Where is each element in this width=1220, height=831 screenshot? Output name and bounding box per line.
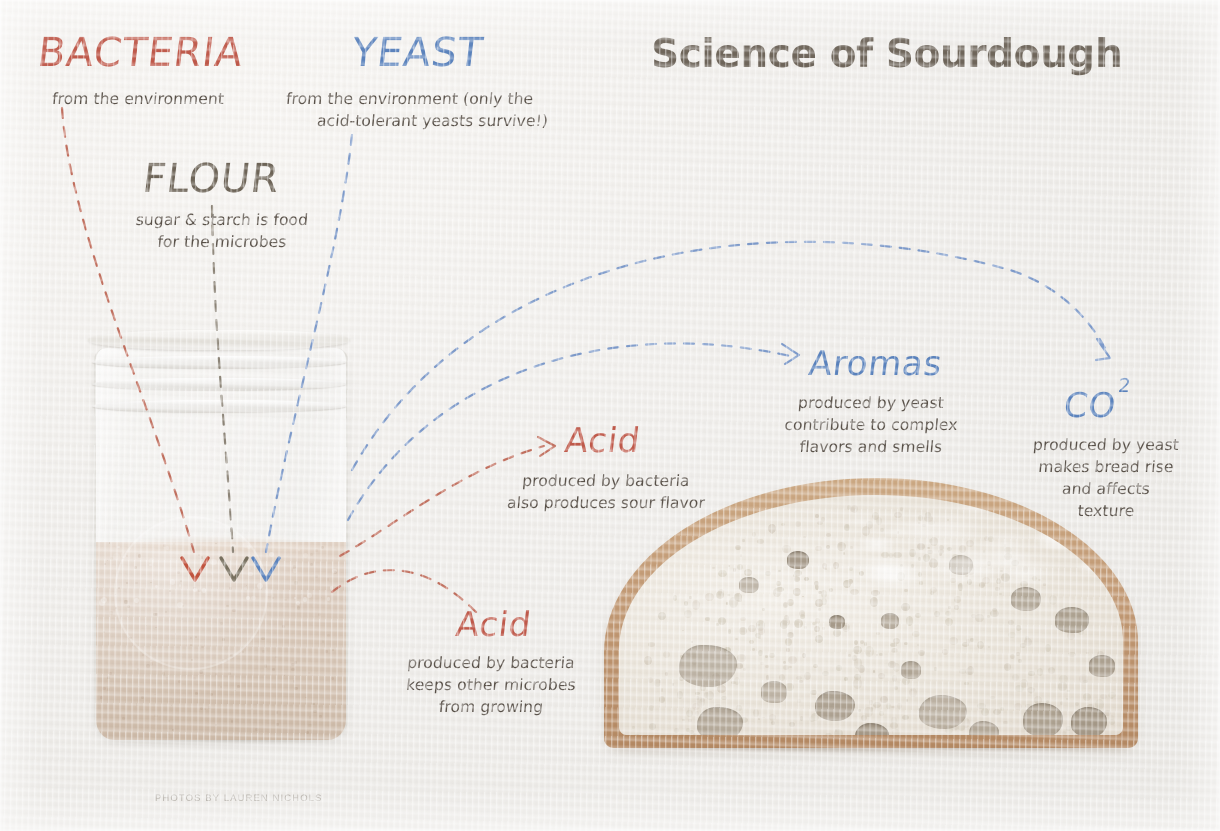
label-aromas-line-3: flavors and smells bbox=[777, 436, 965, 458]
label-flour-heading: FLOUR bbox=[140, 156, 282, 202]
label-co2-heading: CO2 bbox=[1062, 386, 1132, 426]
label-co2-line-2: makes bread rise bbox=[1015, 456, 1197, 478]
line-jar-to-co2 bbox=[352, 242, 1106, 470]
arrowhead-co2 bbox=[1096, 339, 1110, 360]
label-bacteria-line-1: from the environment bbox=[51, 88, 225, 110]
label-acid-upper-line-2: also produces sour flavor bbox=[499, 492, 713, 514]
label-acid-upper-line-1: produced by bacteria bbox=[499, 470, 713, 492]
label-acid-lower-line-2: keeps other microbes bbox=[391, 674, 591, 696]
label-acid-lower-line-3: from growing bbox=[391, 696, 591, 718]
starter-jar-photo bbox=[86, 330, 352, 740]
arrowhead-aromas bbox=[782, 344, 799, 364]
label-acid-lower-heading: Acid bbox=[454, 605, 534, 645]
line-jar-to-acid-lower bbox=[332, 570, 476, 612]
label-aromas-line-1: produced by yeast bbox=[777, 392, 965, 414]
label-yeast-heading: YEAST bbox=[349, 30, 486, 76]
label-flour-line-1: sugar & starch is food bbox=[121, 209, 323, 231]
jar-rim bbox=[88, 330, 350, 350]
label-co2-line-4: texture bbox=[1015, 500, 1197, 522]
label-bacteria-heading: BACTERIA bbox=[35, 30, 246, 76]
label-acid-lower-line-1: produced by bacteria bbox=[391, 652, 591, 674]
page-title: Science of Sourdough bbox=[651, 32, 1122, 77]
photo-credit: PHOTOS BY LAUREN NICHOLS bbox=[155, 793, 323, 804]
label-acid-upper-heading: Acid bbox=[563, 421, 643, 461]
label-aromas-heading: Aromas bbox=[807, 344, 945, 384]
jar-thread-1 bbox=[92, 356, 346, 368]
arrowhead-acid-upper bbox=[538, 437, 555, 456]
label-aromas-line-2: contribute to complex bbox=[777, 414, 965, 436]
jar-embossed-logo bbox=[114, 516, 268, 670]
label-flour-line-2: for the microbes bbox=[121, 231, 323, 253]
label-yeast-line-2: acid-tolerant yeasts survive!) bbox=[285, 110, 549, 132]
label-co2-line-3: and affects bbox=[1015, 478, 1197, 500]
label-co2-text: CO bbox=[1062, 386, 1119, 426]
label-co2-superscript: 2 bbox=[1117, 375, 1132, 397]
infographic-canvas: .dr{stroke:#c2705f;stroke-width:2.2;fill… bbox=[0, 0, 1220, 831]
label-co2-line-1: produced by yeast bbox=[1015, 434, 1197, 456]
label-yeast-line-1: from the environment (only the bbox=[285, 88, 534, 110]
jar-thread-3 bbox=[92, 400, 346, 412]
bread-crumb bbox=[619, 495, 1123, 735]
jar-thread-2 bbox=[92, 378, 346, 390]
